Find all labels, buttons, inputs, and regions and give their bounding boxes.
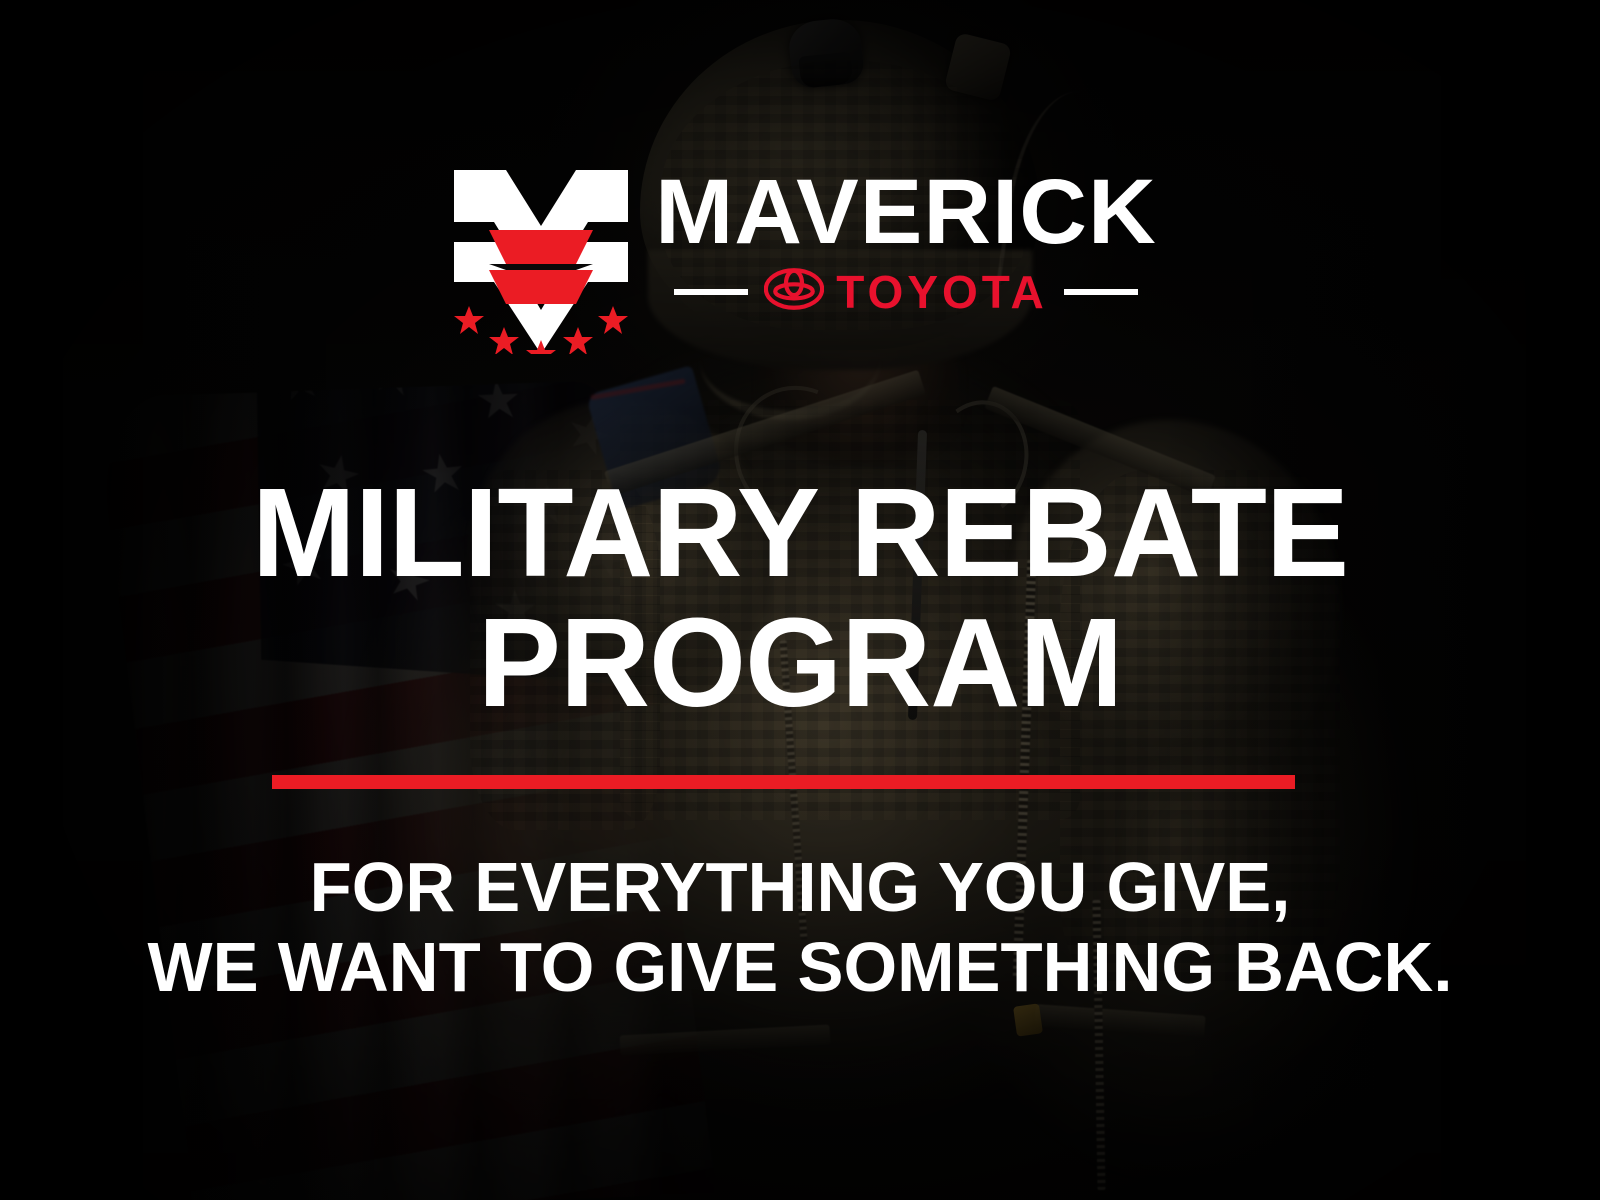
brand-lockup[interactable]: MAVERICK TOYOTA (0, 162, 1600, 352)
lockup-rule-left (674, 289, 748, 295)
maverick-chevron-shield-icon (448, 164, 634, 354)
toyota-emblem-icon (764, 268, 824, 315)
headline-line-2: PROGRAM (8, 598, 1592, 728)
toyota-sub-lockup: TOYOTA (660, 268, 1152, 315)
banner-content: MAVERICK TOYOTA (0, 0, 1600, 1200)
tagline-line-2: WE WANT TO GIVE SOMETHING BACK. (12, 928, 1588, 1008)
page-title: MILITARY REBATE PROGRAM (8, 468, 1592, 728)
headline-line-1: MILITARY REBATE (8, 468, 1592, 598)
military-rebate-banner: ★ ★ ★ ★ ★ ★ ★ ★ ★ ★ ★ (0, 0, 1600, 1200)
lockup-rule-right (1064, 289, 1138, 295)
tagline: FOR EVERYTHING YOU GIVE, WE WANT TO GIVE… (12, 848, 1588, 1008)
toyota-wordmark: TOYOTA (836, 269, 1047, 315)
toyota-brand-group: TOYOTA (764, 268, 1047, 315)
maverick-wordmark: MAVERICK (655, 168, 1157, 256)
brand-wordmark-group: MAVERICK TOYOTA (660, 162, 1152, 315)
red-divider-rule (272, 775, 1295, 789)
tagline-line-1: FOR EVERYTHING YOU GIVE, (12, 848, 1588, 928)
